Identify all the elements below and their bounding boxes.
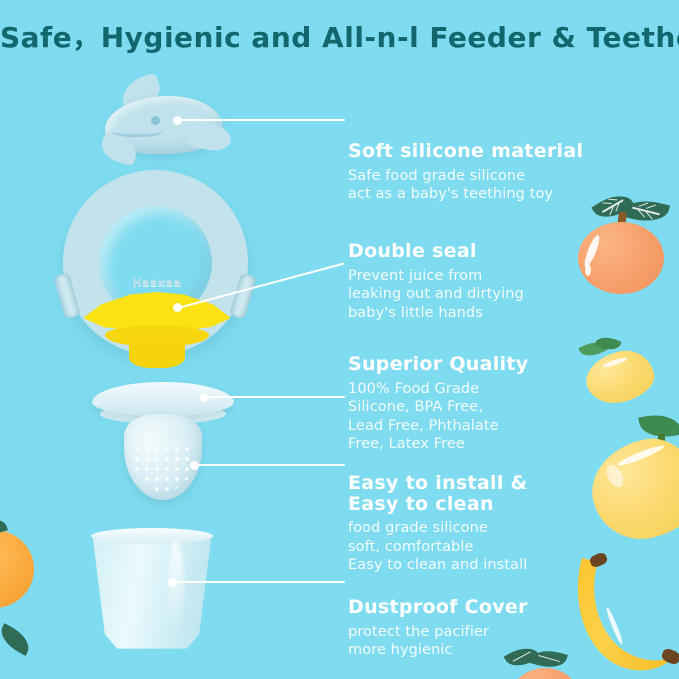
feature-double-seal: Double seal Prevent juice from leaking o… — [348, 200, 648, 322]
cover-sheen — [168, 541, 184, 633]
feature-heading-text: Soft silicone material — [348, 140, 583, 162]
feature-dustproof-cover: Dustproof Cover protect the pacifier mor… — [348, 556, 648, 660]
infographic-canvas: Safe，Hygienic and All-n-l Feeder & Teeth… — [0, 0, 679, 679]
callout-line-easy-install — [195, 464, 345, 466]
cover-body — [90, 533, 214, 651]
leaf-icon — [0, 623, 34, 656]
feature-heading: Double seal — [348, 200, 477, 262]
callout-line-soft-silicone — [178, 119, 345, 121]
feature-heading-text: Superior Quality — [348, 353, 528, 375]
brand-emboss: Haakaa — [107, 276, 207, 289]
feature-heading: Superior Quality — [348, 313, 528, 375]
double-seal-stem — [129, 342, 185, 368]
feature-heading: Easy to install & Easy to clean — [348, 432, 527, 514]
product-image-dustproof-cover — [90, 525, 214, 657]
feature-soft-silicone-material: Soft silicone material Safe food grade s… — [348, 100, 648, 204]
orange-body — [0, 530, 34, 608]
dolphin-eye — [151, 116, 160, 125]
feature-heading: Dustproof Cover — [348, 556, 528, 618]
feature-heading-text: Easy to install & Easy to clean — [348, 472, 527, 515]
cover-rim — [91, 528, 213, 544]
callout-line-dustproof-cover — [173, 581, 345, 583]
feature-body: protect the pacifier more hygienic — [348, 623, 648, 660]
product-image-silicone-feeder — [88, 382, 238, 502]
callout-line-superior-quality — [205, 396, 345, 398]
orange-fruit-left-edge — [0, 520, 40, 606]
feature-heading: Soft silicone material — [348, 100, 583, 162]
feature-easy-to-install-and-clean: Easy to install & Easy to clean food gra… — [348, 432, 648, 575]
orange-body — [508, 668, 582, 679]
feature-body: Safe food grade silicone act as a baby's… — [348, 167, 648, 204]
feature-heading-text: Dustproof Cover — [348, 596, 528, 618]
feeder-cap — [92, 382, 234, 416]
dolphin-figure — [93, 78, 233, 176]
feature-heading-text: Double seal — [348, 240, 477, 262]
page-title: Safe，Hygienic and All-n-l Feeder & Teeth… — [0, 16, 679, 56]
